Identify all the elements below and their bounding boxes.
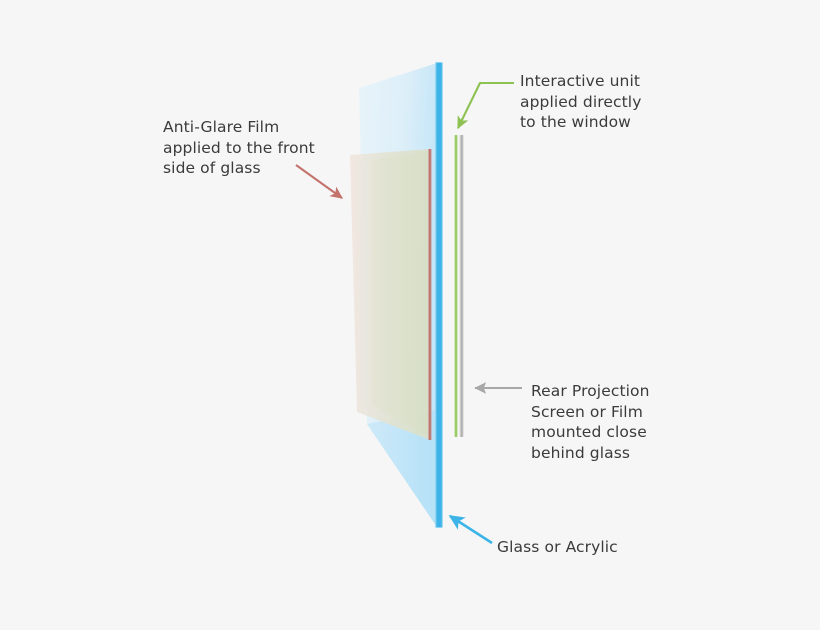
interactive-unit-edge-line [454,135,458,437]
glass-acrylic-arrow [450,516,492,543]
label-rear-projection-screen: Rear Projection Screen or Film mounted c… [531,381,731,463]
rear-projection-edge-line [460,135,464,437]
diagram-canvas: Anti-Glare Film applied to the front sid… [0,0,820,630]
anti-glare-film-plane [350,149,430,440]
glass-edge-line [435,62,443,528]
label-glass-or-acrylic: Glass or Acrylic [497,537,697,558]
anti-glare-film-edge [428,149,431,440]
label-anti-glare-film: Anti-Glare Film applied to the front sid… [163,117,363,179]
label-interactive-unit: Interactive unit applied directly to the… [520,71,720,133]
interactive-unit-arrow [458,83,514,128]
